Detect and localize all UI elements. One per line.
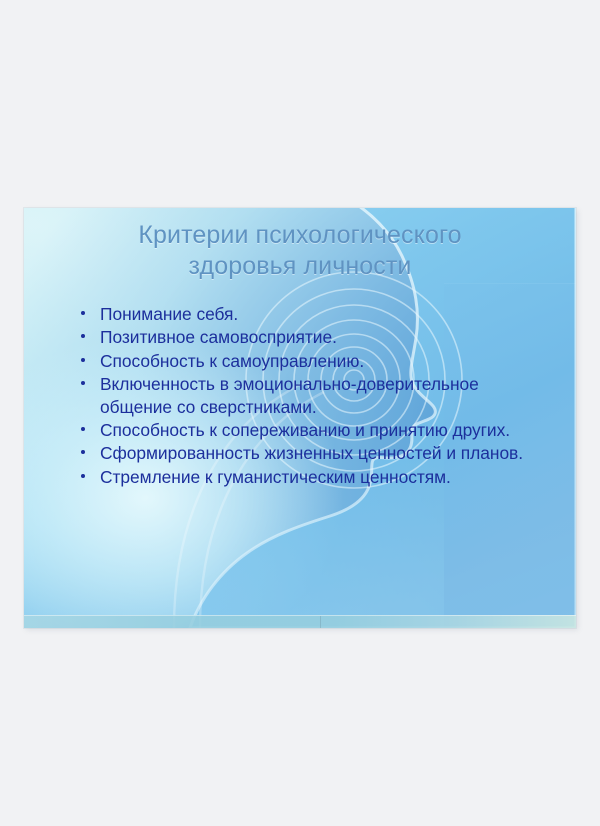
list-item: Сформированность жизненных ценностей и п… bbox=[50, 442, 550, 464]
bullet-dot-icon bbox=[81, 334, 85, 338]
list-item: Позитивное самовосприятие. bbox=[50, 326, 550, 348]
bullet-dot-icon bbox=[81, 311, 85, 315]
list-item: Способность к сопереживанию и принятию д… bbox=[50, 419, 550, 441]
list-item-label: Позитивное самовосприятие. bbox=[100, 326, 550, 348]
bullet-dot-icon bbox=[81, 358, 85, 362]
slide-content: Критерии психологического здоровья лично… bbox=[24, 208, 576, 628]
presentation-slide: Критерии психологического здоровья лично… bbox=[24, 208, 576, 628]
bullet-dot-icon bbox=[81, 381, 85, 385]
list-item-label: Включенность в эмоционально-доверительно… bbox=[100, 373, 550, 418]
list-item-label: Стремление к гуманистическим ценностям. bbox=[100, 466, 550, 488]
list-item: Понимание себя. bbox=[50, 303, 550, 325]
list-item: Стремление к гуманистическим ценностям. bbox=[50, 466, 550, 488]
bullet-dot-icon bbox=[81, 450, 85, 454]
criteria-bullet-list: Понимание себя. Позитивное самовосприяти… bbox=[50, 303, 550, 489]
list-item-label: Сформированность жизненных ценностей и п… bbox=[100, 442, 550, 464]
bullet-dot-icon bbox=[81, 474, 85, 478]
list-item-label: Способность к самоуправлению. bbox=[100, 350, 550, 372]
list-item: Способность к самоуправлению. bbox=[50, 350, 550, 372]
list-item: Включенность в эмоционально-доверительно… bbox=[50, 373, 550, 418]
slide-title: Критерии психологического здоровья лично… bbox=[48, 220, 552, 282]
list-item-label: Понимание себя. bbox=[100, 303, 550, 325]
page-canvas: Критерии психологического здоровья лично… bbox=[0, 0, 600, 826]
bullet-dot-icon bbox=[81, 427, 85, 431]
list-item-label: Способность к сопереживанию и принятию д… bbox=[100, 419, 550, 441]
